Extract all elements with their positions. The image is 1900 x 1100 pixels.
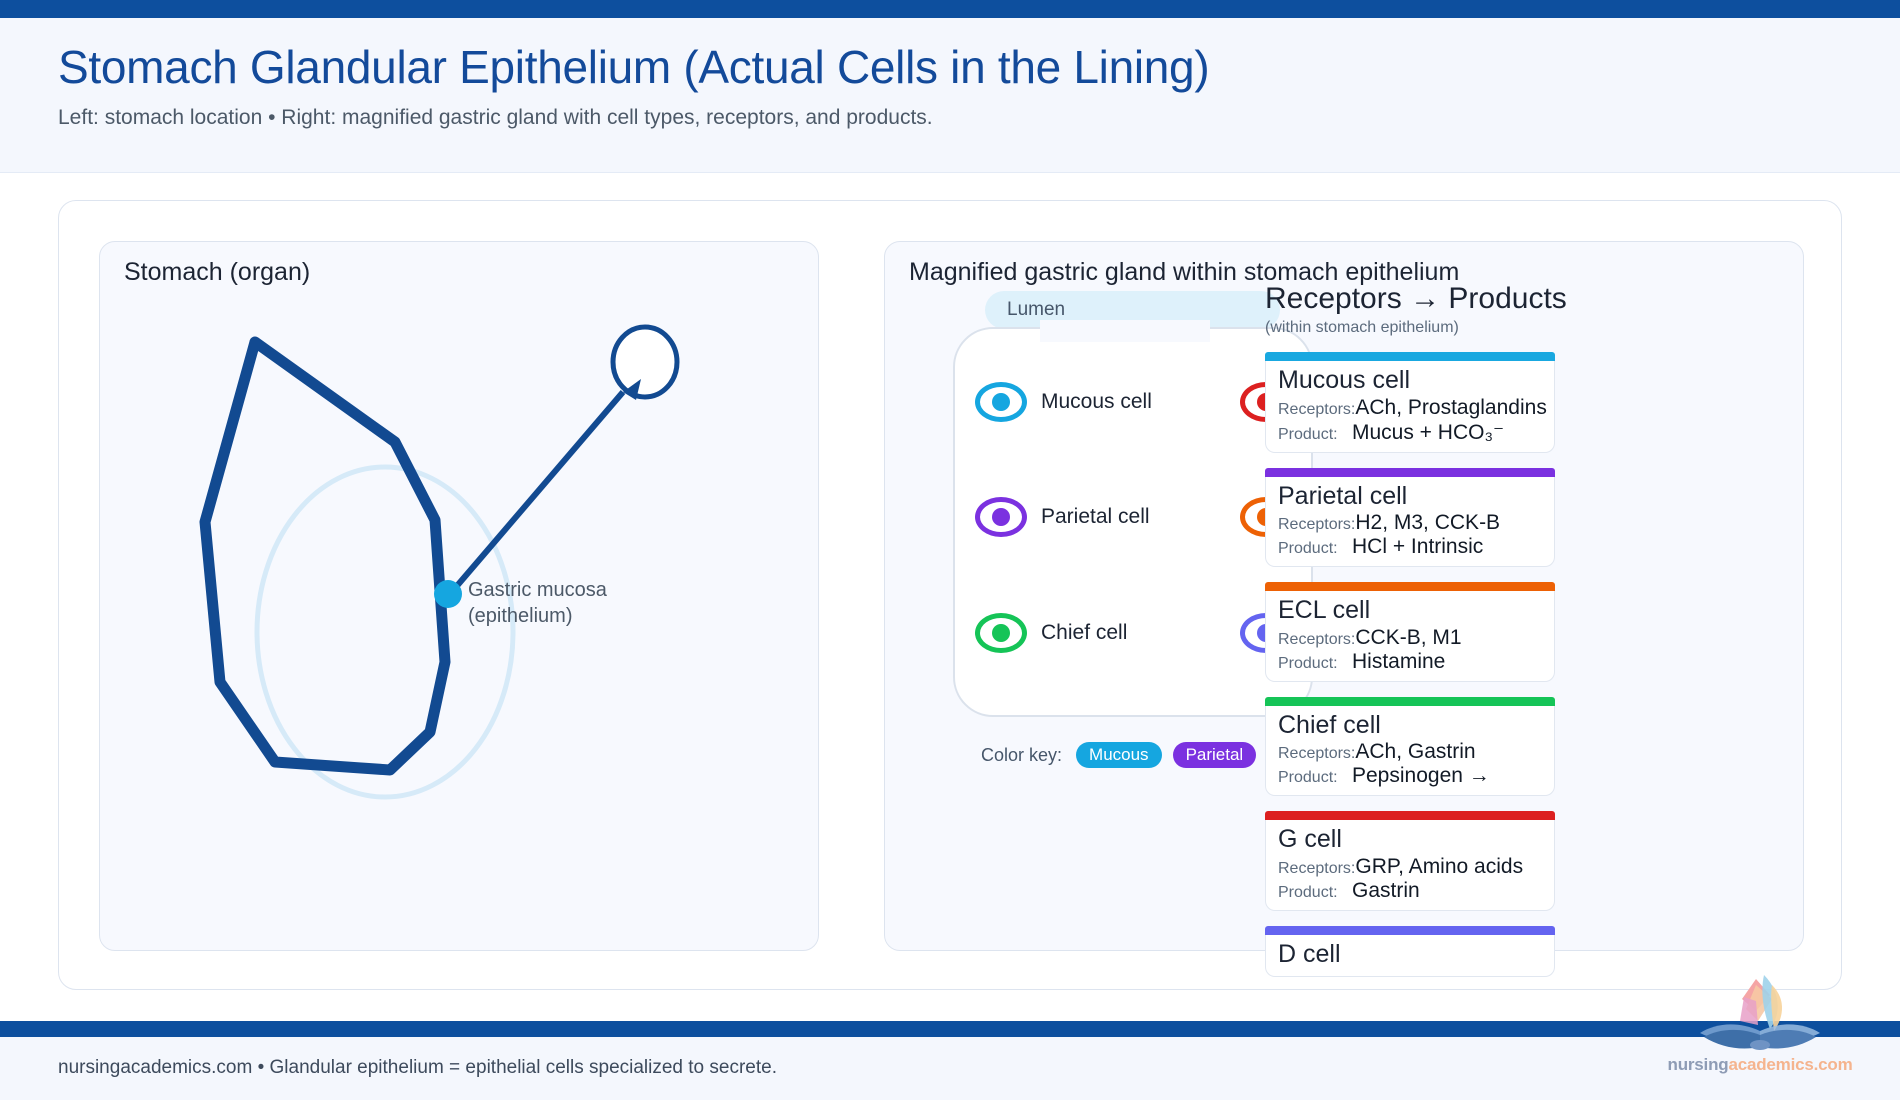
product-key: Product: <box>1278 884 1352 902</box>
gastric-mucosa-oval <box>257 467 513 797</box>
card-accent-bar <box>1265 582 1555 591</box>
chip-parietal[interactable]: Parietal <box>1173 742 1257 768</box>
product-value: HCl + Intrinsic <box>1352 535 1483 559</box>
card-title: Parietal cell <box>1278 482 1542 512</box>
card-accent-bar <box>1265 468 1555 477</box>
page-root: Stomach Glandular Epithelium (Actual Cel… <box>0 0 1900 1100</box>
product-key: Product: <box>1278 655 1352 673</box>
color-key-label: Color key: <box>981 745 1062 766</box>
page-title: Stomach Glandular Epithelium (Actual Cel… <box>58 40 1900 94</box>
logo-wordmark: nursingacademics.com <box>1660 1055 1860 1075</box>
top-accent-bar <box>0 0 1900 18</box>
receptors-value: H2, M3, CCK-B <box>1355 511 1500 535</box>
product-value: Histamine <box>1352 650 1445 674</box>
card-accent-bar <box>1265 926 1555 935</box>
card-title: G cell <box>1278 825 1542 855</box>
card-accent-bar <box>1265 811 1555 820</box>
card-title: D cell <box>1278 940 1542 970</box>
cell-label: Mucous cell <box>1041 390 1152 414</box>
product-key: Product: <box>1278 540 1352 558</box>
callout-leader-line <box>450 392 623 594</box>
receptors-value: ACh, Prostaglandins <box>1355 396 1546 420</box>
product-value: Pepsinogen → <box>1352 764 1490 788</box>
cell-parietal[interactable]: Parietal cell <box>975 497 1150 537</box>
chip-mucous[interactable]: Mucous <box>1076 742 1162 768</box>
logo-word-a: nursing <box>1668 1055 1729 1074</box>
lumen-label: Lumen <box>1007 299 1065 321</box>
footer-text: nursingacademics.com • Glandular epithel… <box>58 1057 777 1079</box>
product-key: Product: <box>1278 769 1352 787</box>
receptor-card-d[interactable]: D cell <box>1265 926 1555 978</box>
mucous-cell-icon <box>975 382 1027 422</box>
receptors-value: ACh, Gastrin <box>1355 740 1475 764</box>
product-key: Product: <box>1278 426 1352 444</box>
page-header: Stomach Glandular Epithelium (Actual Cel… <box>0 18 1900 173</box>
page-footer: nursingacademics.com • Glandular epithel… <box>0 1037 1900 1100</box>
receptor-card-g[interactable]: G cell Receptors:GRP, Amino acids Produc… <box>1265 811 1555 911</box>
parietal-cell-icon <box>975 497 1027 537</box>
receptors-key: Receptors: <box>1278 860 1355 878</box>
receptor-card-chief[interactable]: Chief cell Receptors:ACh, Gastrin Produc… <box>1265 697 1555 797</box>
card-title: ECL cell <box>1278 596 1542 626</box>
receptors-value: GRP, Amino acids <box>1355 855 1523 879</box>
magnifier-circle <box>613 327 677 397</box>
receptors-key: Receptors: <box>1278 516 1355 534</box>
card-title: Chief cell <box>1278 711 1542 741</box>
receptor-card-mucous[interactable]: Mucous cell Receptors:ACh, Prostaglandin… <box>1265 352 1555 453</box>
receptor-card-ecl[interactable]: ECL cell Receptors:CCK-B, M1 Product:His… <box>1265 582 1555 682</box>
content-stage: Stomach (organ) Gastric mucosa (epitheli… <box>58 200 1842 990</box>
stomach-organ-panel: Stomach (organ) Gastric mucosa (epitheli… <box>99 241 819 951</box>
receptors-subtitle: (within stomach epithelium) <box>1265 319 1555 337</box>
receptors-products-column: Receptors → Products (within stomach epi… <box>1265 282 1555 977</box>
card-accent-bar <box>1265 352 1555 361</box>
logo-word-b: academics.com <box>1728 1055 1852 1074</box>
cell-label: Chief cell <box>1041 621 1127 645</box>
product-value: Gastrin <box>1352 879 1420 903</box>
chief-cell-icon <box>975 613 1027 653</box>
cell-mucous[interactable]: Mucous cell <box>975 382 1152 422</box>
page-subtitle: Left: stomach location • Right: magnifie… <box>58 106 1900 130</box>
receptors-key: Receptors: <box>1278 745 1355 763</box>
gastric-mucosa-label: Gastric mucosa (epithelium) <box>468 578 607 629</box>
receptors-value: CCK-B, M1 <box>1355 626 1461 650</box>
cell-chief[interactable]: Chief cell <box>975 613 1127 653</box>
mucosa-anchor-dot <box>434 580 462 608</box>
gland-opening <box>1040 320 1210 342</box>
receptors-key: Receptors: <box>1278 401 1355 419</box>
card-accent-bar <box>1265 697 1555 706</box>
receptors-title: Receptors → Products <box>1265 282 1555 316</box>
stomach-organ-diagram <box>100 242 820 952</box>
cell-label: Parietal cell <box>1041 505 1150 529</box>
receptor-card-parietal[interactable]: Parietal cell Receptors:H2, M3, CCK-B Pr… <box>1265 468 1555 568</box>
stomach-outline <box>205 342 445 770</box>
card-title: Mucous cell <box>1278 366 1542 396</box>
receptors-key: Receptors: <box>1278 631 1355 649</box>
footer-accent-bar <box>0 1021 1900 1037</box>
product-value: Mucus + HCO₃⁻ <box>1352 420 1504 445</box>
